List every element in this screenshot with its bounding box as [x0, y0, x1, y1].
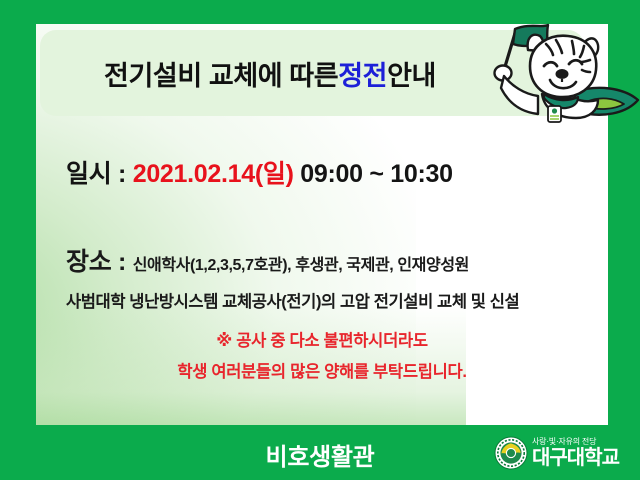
- brand-wordmark: 사랑·빛·자유의 전당 대구대학교: [532, 438, 619, 468]
- notice-line-2: 학생 여러분들의 많은 양해를 부탁드립니다.: [36, 358, 608, 382]
- title-suffix: 안내: [387, 54, 436, 93]
- brand-name: 대구대학교: [532, 448, 619, 468]
- work-detail-line: 사범대학 냉난방시스템 교체공사(전기)의 고압 전기설비 교체 및 신설: [66, 288, 519, 312]
- brand-tagline: 사랑·빛·자유의 전당: [532, 438, 619, 446]
- datetime-line: 일시 : 2021.02.14(일) 09:00 ~ 10:30: [66, 154, 453, 190]
- content-panel: 전기설비 교체에 따른 정전 안내 일시 : 2021.02.14(일) 09:…: [36, 24, 608, 425]
- university-emblem-icon: [494, 436, 528, 470]
- power-outage-notice-poster: 전기설비 교체에 따른 정전 안내 일시 : 2021.02.14(일) 09:…: [0, 0, 640, 480]
- place-value: 신애학사(1,2,3,5,7호관), 후생관, 국제관, 인재양성원: [133, 257, 469, 274]
- daegu-university-logo: 사랑·빛·자유의 전당 대구대학교: [494, 431, 634, 475]
- datetime-date: 2021.02.14(일): [133, 160, 294, 188]
- place-line: 장소 : 신애학사(1,2,3,5,7호관), 후생관, 국제관, 인재양성원: [66, 242, 469, 278]
- place-label: 장소 :: [66, 248, 133, 276]
- datetime-time: 09:00 ~ 10:30: [294, 160, 453, 188]
- title-highlight: 정전: [338, 54, 387, 93]
- notice-line-1: ※ 공사 중 다소 불편하시더라도: [36, 327, 608, 351]
- page-title: 전기설비 교체에 따른 정전 안내: [40, 30, 500, 116]
- datetime-label: 일시 :: [66, 160, 133, 188]
- title-prefix: 전기설비 교체에 따른: [104, 54, 338, 93]
